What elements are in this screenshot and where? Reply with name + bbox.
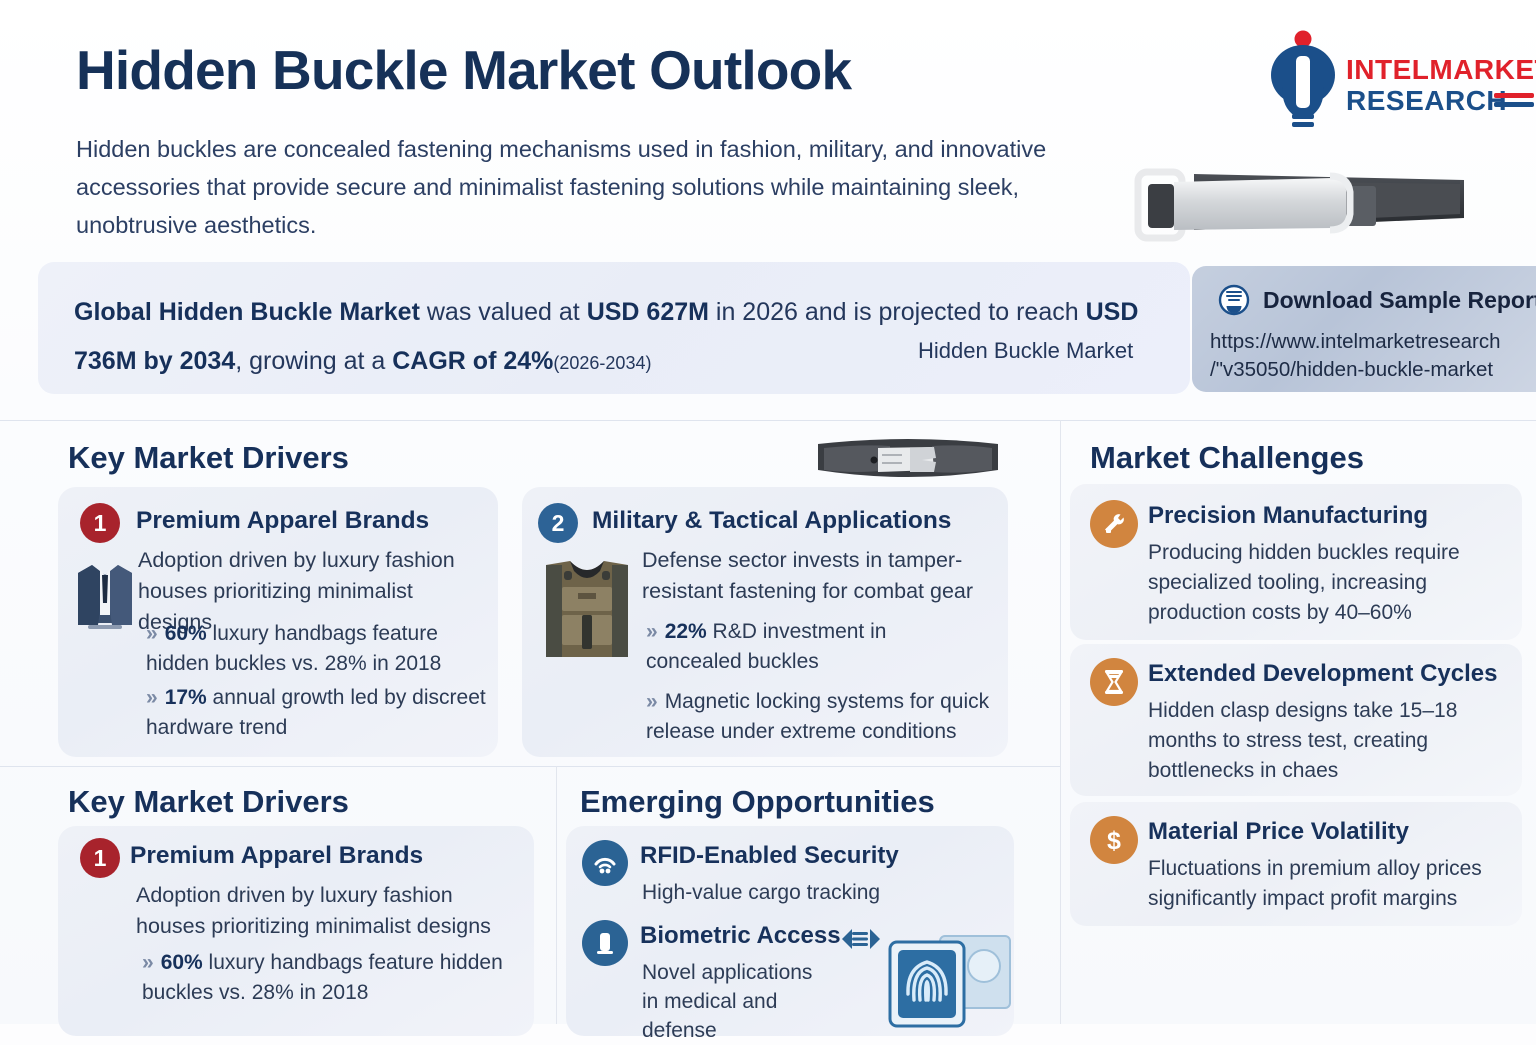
section-heading-market-challenges: Market Challenges [1090,440,1364,476]
driver-card-1[interactable]: 1 Premium Apparel Brands Adoption driven… [58,487,498,757]
header: Hidden Buckle Market Outlook Hidden buck… [0,0,1536,250]
driver-2-desc: Defense sector invests in tamper-resista… [642,545,998,607]
report-url-line1: https://www.intelmarketresearch [1210,328,1536,356]
market-value-banner: Global Hidden Buckle Market was valued a… [38,262,1190,394]
driver-bottom-bullet-1-stat: 60% [161,951,203,974]
download-header[interactable]: Download Sample Report [1218,284,1536,316]
driver-bottom-title: Premium Apparel Brands [130,842,423,870]
svg-text:$: $ [1107,827,1121,854]
stat-text-2: in 2026 and is projected to reach [709,298,1086,326]
fingerprint-scanner-image [884,928,1014,1034]
market-name: Global Hidden Buckle Market [74,298,420,326]
divider-vertical-right [1060,420,1061,1024]
driver-1-badge: 1 [80,503,120,543]
challenge-card-1[interactable]: Precision Manufacturing Producing hidden… [1070,484,1522,640]
divider-vertical-bottom [556,766,557,1024]
divider-horizontal-top [0,420,1536,421]
hourglass-icon [1090,658,1138,706]
banner-caption: Hidden Buckle Market [918,338,1133,364]
infographic-page: Hidden Buckle Market Outlook Hidden buck… [0,0,1536,1024]
chevron-right-icon: » [646,620,658,643]
device-icon [582,920,628,966]
chevron-right-icon: » [646,690,658,713]
driver-card-2[interactable]: 2 Military & Tactical Applications Defen… [522,487,1008,757]
driver-2-title: Military & Tactical Applications [592,507,951,535]
opportunities-card[interactable]: RFID-Enabled Security High-value cargo t… [566,826,1014,1036]
driver-2-badge: 2 [538,503,578,543]
opportunity-2-title: Biometric Access [640,922,841,950]
chevron-right-icon: » [142,951,154,974]
section-heading-key-market-drivers: Key Market Drivers [68,440,349,476]
challenge-1-body: Producing hidden buckles require special… [1148,538,1520,628]
stat-text-1: was valued at [420,298,587,326]
logo-bars-icon [1494,93,1534,111]
driver-1-bullet-2-stat: 17% [165,686,207,709]
driver-card-bottom-1[interactable]: 1 Premium Apparel Brands Adoption driven… [58,826,534,1036]
access-arrow-icon [840,926,882,952]
opportunity-1-body: High-value cargo tracking [642,878,880,907]
opportunity-1-title: RFID-Enabled Security [640,842,899,870]
driver-1-bullet-2: »17% annual growth led by discreet hardw… [146,683,486,743]
page-title: Hidden Buckle Market Outlook [76,38,851,102]
driver-bottom-badge: 1 [80,838,120,878]
chevron-right-icon: » [146,622,158,645]
tactical-belt-image [804,430,1012,490]
section-heading-key-market-drivers-bottom: Key Market Drivers [68,784,349,820]
report-url[interactable]: https://www.intelmarketresearch /"v35050… [1210,328,1536,384]
divider-horizontal-mid [0,766,1060,767]
challenge-2-title: Extended Development Cycles [1148,660,1497,688]
opportunity-2-body: Novel applications in medical and defens… [642,958,832,1045]
cagr-period: (2026-2034) [553,353,651,373]
driver-1-bullet-1: »60% luxury handbags feature hidden buck… [146,619,486,679]
report-url-line2: /"v35050/hidden-buckle-market [1210,356,1536,384]
driver-2-bullet-2: »Magnetic locking systems for quick rele… [646,687,1002,747]
value-2026: USD 627M [587,298,709,326]
driver-bottom-bullet-1: »60% luxury handbags feature hidden buck… [142,948,532,1008]
rfid-icon [582,840,628,886]
suit-icon [72,555,138,633]
intelmarket-research-logo: INTELMARKET RESEARCH [1262,26,1532,136]
page-subtitle: Hidden buckles are concealed fastening m… [76,130,1066,244]
driver-2-bullet-1-stat: 22% [665,620,707,643]
download-title: Download Sample Report [1263,287,1536,314]
driver-bottom-desc: Adoption driven by luxury fashion houses… [136,880,526,942]
challenge-card-2[interactable]: Extended Development Cycles Hidden clasp… [1070,644,1522,796]
driver-2-bullet-1: »22% R&D investment in concealed buckles [646,617,946,677]
chevron-right-icon: » [146,686,158,709]
challenge-3-title: Material Price Volatility [1148,818,1409,846]
challenge-2-body: Hidden clasp designs take 15–18 months t… [1148,696,1520,786]
stat-text-3: , growing at a [235,347,392,375]
wrench-icon [1090,500,1138,548]
belt-product-image [1124,158,1484,250]
driver-1-title: Premium Apparel Brands [136,507,429,535]
tactical-vest-icon [540,557,634,673]
section-heading-emerging-opportunities: Emerging Opportunities [580,784,935,820]
driver-2-bullet-2-text: Magnetic locking systems for quick relea… [646,690,989,743]
download-report-icon [1218,284,1250,316]
dollar-icon: $ [1090,816,1138,864]
logo-line-intelmarket: INTELMARKET [1346,54,1536,85]
challenge-card-3[interactable]: $ Material Price Volatility Fluctuations… [1070,802,1522,926]
download-sample-report-panel[interactable]: Download Sample Report https://www.intel… [1192,266,1536,392]
challenge-1-title: Precision Manufacturing [1148,502,1428,530]
lightbulb-icon [1268,30,1338,130]
challenge-3-body: Fluctuations in premium alloy prices sig… [1148,854,1520,914]
cagr-value: CAGR of 24% [392,347,553,375]
driver-1-bullet-1-stat: 60% [165,622,207,645]
